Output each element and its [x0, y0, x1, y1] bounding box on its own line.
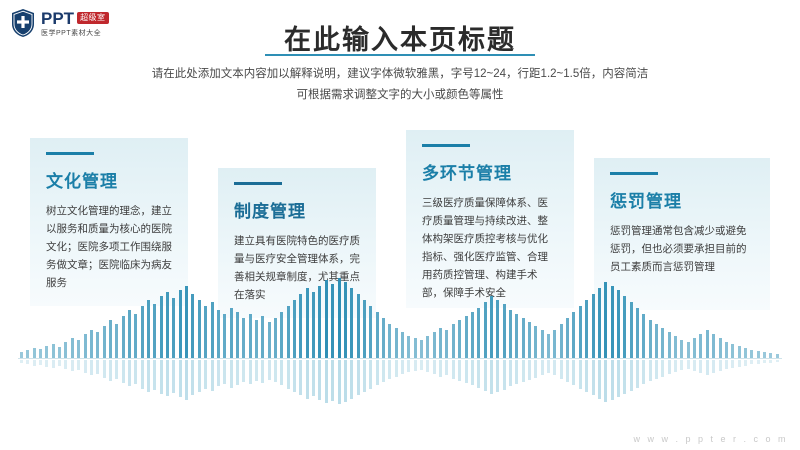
card-title: 制度管理 [234, 197, 360, 222]
wave-bar [655, 324, 658, 358]
wave-bar [191, 294, 194, 358]
wave-bar-reflection [503, 360, 506, 390]
wave-bar [725, 342, 728, 358]
wave-bar-reflection [268, 360, 271, 380]
wave-bar-reflection [699, 360, 702, 373]
wave-bar-reflection [204, 360, 207, 389]
wave-bar [185, 286, 188, 358]
wave-bar-reflection [179, 360, 182, 397]
wave-bar-reflection [236, 360, 239, 385]
wave-bar [242, 318, 245, 358]
wave-bar [560, 324, 563, 358]
page-title: 在此输入本页标题 [0, 18, 800, 57]
wave-bar [344, 282, 347, 358]
wave-bar-reflection [445, 360, 448, 375]
wave-bar [147, 300, 150, 358]
wave-bar-reflection [58, 360, 61, 366]
wave-bar-reflection [122, 360, 125, 383]
wave-bar [115, 324, 118, 358]
wave-bar [376, 312, 379, 358]
card-title: 文化管理 [46, 167, 172, 192]
wave-bar-reflection [287, 360, 290, 389]
wave-bar [58, 347, 61, 358]
wave-bar-reflection [318, 360, 321, 400]
subtitle-line-1: 请在此处添加文本内容加以解释说明，建议字体微软雅黑，字号12~24，行距1.2~… [0, 64, 800, 85]
wave-bar [465, 316, 468, 358]
wave-bar-reflection [725, 360, 728, 369]
wave-bar-reflection [738, 360, 741, 367]
wave-bar-reflection [420, 360, 423, 370]
wave-bar-reflection [719, 360, 722, 371]
wave-bar-reflection [312, 360, 315, 396]
wave-bar-reflection [439, 360, 442, 377]
wave-bar-reflection [344, 360, 347, 402]
wave-bar [668, 332, 671, 358]
card-body: 惩罚管理通常包含减少或避免惩罚，但也必须要承担目前的员工素质而言惩罚管理 [610, 222, 754, 276]
wave-bar-reflection [750, 360, 753, 364]
wave-bar [598, 288, 601, 358]
wave-bar [198, 300, 201, 358]
wave-bar-reflection [611, 360, 614, 400]
wave-bar [534, 326, 537, 358]
wave-bar-reflection [382, 360, 385, 382]
wave-bar-reflection [553, 360, 556, 375]
wave-bar [680, 340, 683, 358]
wave-bar-reflection [712, 360, 715, 373]
wave-bar [522, 318, 525, 358]
wave-bar-reflection [217, 360, 220, 386]
wave-bar-reflection [572, 360, 575, 385]
wave-bar-reflection [649, 360, 652, 381]
wave-bar-reflection [153, 360, 156, 390]
wave-bar-reflection [776, 360, 779, 362]
wave-bar-reflection [509, 360, 512, 386]
wave-bar [363, 300, 366, 358]
wave-bar [420, 340, 423, 358]
wave-bar-reflection [585, 360, 588, 392]
wave-bar [763, 352, 766, 358]
wave-bar [71, 338, 74, 358]
wave-bar-reflection [369, 360, 372, 389]
wave-bar [401, 332, 404, 358]
wave-bar-reflection [407, 360, 410, 372]
wave-bar-reflection [661, 360, 664, 377]
wave-bar-reflection [477, 360, 480, 388]
wave-bar-reflection [160, 360, 163, 394]
wave-bar [699, 334, 702, 358]
wave-bar [230, 308, 233, 358]
wave-baseline [18, 358, 782, 359]
wave-bar [509, 310, 512, 358]
wave-bar [261, 316, 264, 358]
wave-bar [433, 332, 436, 358]
wave-bar [776, 354, 779, 358]
wave-bar [712, 334, 715, 358]
wave-bar-reflection [433, 360, 436, 374]
wave-bar [636, 308, 639, 358]
wave-bar [338, 278, 341, 358]
wave-bar [528, 322, 531, 358]
wave-bar-reflection [249, 360, 252, 384]
wave-bar-reflection [109, 360, 112, 381]
watermark: w w w . p p t e r . c o m [633, 434, 788, 444]
wave-bar [236, 312, 239, 358]
title-underline [265, 54, 535, 56]
wave-bar [357, 294, 360, 358]
wave-bar-reflection [490, 360, 493, 394]
wave-bar [611, 286, 614, 358]
wave-bar-reflection [242, 360, 245, 382]
card-title: 惩罚管理 [610, 187, 754, 212]
wave-bar [109, 320, 112, 358]
wave-bar-reflection [147, 360, 150, 392]
wave-bar-reflection [350, 360, 353, 399]
wave-bar-reflection [414, 360, 417, 371]
wave-bar-reflection [357, 360, 360, 395]
wave-bar [452, 324, 455, 358]
wave-bar-reflection [592, 360, 595, 395]
wave-bar [77, 340, 80, 358]
wave-bar-reflection [388, 360, 391, 379]
wave-bar-reflection [636, 360, 639, 388]
wave-bar [223, 314, 226, 358]
wave-bar-reflection [26, 360, 29, 364]
wave-bar [503, 304, 506, 358]
wave-bar-reflection [331, 360, 334, 401]
wave-bar [731, 344, 734, 358]
wave-bar-reflection [223, 360, 226, 384]
wave-bar [566, 318, 569, 358]
wave-bar [630, 302, 633, 358]
wave-bar [674, 336, 677, 358]
wave-bar [445, 330, 448, 358]
wave-bar [249, 314, 252, 358]
wave-bar-reflection [528, 360, 531, 380]
wave-bar [541, 330, 544, 358]
wave-bar [103, 326, 106, 358]
wave-bar-reflection [668, 360, 671, 374]
wave-bar [274, 318, 277, 358]
wave-decoration [0, 280, 800, 440]
wave-bar-reflection [134, 360, 137, 384]
wave-bar [179, 290, 182, 358]
wave-bar-reflection [338, 360, 341, 404]
wave-bar-reflection [71, 360, 74, 371]
page-subtitle: 请在此处添加文本内容加以解释说明，建议字体微软雅黑，字号12~24，行距1.2~… [0, 64, 800, 107]
wave-bar [426, 336, 429, 358]
wave-bar-reflection [687, 360, 690, 369]
wave-bar-reflection [731, 360, 734, 368]
wave-bar [52, 344, 55, 358]
wave-bar [293, 300, 296, 358]
wave-bar-reflection [566, 360, 569, 382]
wave-bar-reflection [185, 360, 188, 400]
wave-bar [407, 336, 410, 358]
wave-bar-reflection [630, 360, 633, 391]
wave-bar-reflection [96, 360, 99, 374]
wave-bar-reflection [426, 360, 429, 372]
card-accent-rule [422, 144, 470, 147]
wave-bar-reflection [560, 360, 563, 379]
wave-bar [331, 284, 334, 358]
wave-bar [496, 300, 499, 358]
wave-bar [477, 308, 480, 358]
wave-bar [160, 296, 163, 358]
wave-bar [211, 302, 214, 358]
wave-bar-reflection [191, 360, 194, 395]
wave-bar-reflection [84, 360, 87, 373]
wave-bar [687, 342, 690, 358]
wave-bar [325, 280, 328, 358]
wave-bar [757, 351, 760, 358]
wave-bar [26, 350, 29, 358]
wave-bar [20, 352, 23, 358]
wave-bar-reflection [115, 360, 118, 379]
wave-bar [750, 350, 753, 358]
wave-bar [90, 330, 93, 358]
wave-bar-reflection [484, 360, 487, 391]
wave-bar [350, 288, 353, 358]
wave-bar-reflection [604, 360, 607, 402]
wave-bar-reflection [293, 360, 296, 392]
wave-bar-reflection [255, 360, 258, 381]
wave-bar-reflection [693, 360, 696, 371]
wave-bar-reflection [141, 360, 144, 389]
wave-bar-reflection [166, 360, 169, 396]
wave-bar-reflection [90, 360, 93, 375]
wave-bar-reflection [172, 360, 175, 393]
wave-bar-reflection [763, 360, 766, 363]
wave-bar [706, 330, 709, 358]
wave-bar [642, 314, 645, 358]
wave-bar [693, 338, 696, 358]
wave-bar-reflection [128, 360, 131, 386]
wave-bar [122, 316, 125, 358]
wave-bar [64, 342, 67, 358]
wave-bar [388, 324, 391, 358]
card-accent-rule [610, 172, 658, 175]
wave-bar [623, 296, 626, 358]
wave-bar [45, 346, 48, 358]
wave-bar [439, 328, 442, 358]
wave-bar [255, 320, 258, 358]
wave-bar-reflection [401, 360, 404, 374]
wave-bar [172, 298, 175, 358]
wave-bar-reflection [77, 360, 80, 370]
wave-bar-reflection [655, 360, 658, 379]
wave-bar-reflection [757, 360, 760, 364]
wave-bar [515, 314, 518, 358]
wave-bar [287, 306, 290, 358]
wave-bar [738, 346, 741, 358]
wave-bar-reflection [306, 360, 309, 399]
wave-bar [318, 286, 321, 358]
wave-bar [39, 349, 42, 358]
wave-bar-reflection [376, 360, 379, 385]
wave-bar [312, 292, 315, 358]
wave-bar [617, 290, 620, 358]
wave-bar-reflection [299, 360, 302, 395]
wave-bar-reflection [674, 360, 677, 372]
wave-bar [471, 312, 474, 358]
wave-bar [141, 306, 144, 358]
wave-bar-reflection [363, 360, 366, 392]
wave-bar-reflection [211, 360, 214, 391]
wave-bar-reflection [280, 360, 283, 385]
wave-bar [661, 328, 664, 358]
wave-bar [204, 306, 207, 358]
wave-bar [299, 294, 302, 358]
wave-bar-reflection [64, 360, 67, 369]
wave-bar [96, 332, 99, 358]
wave-bar-reflection [617, 360, 620, 397]
card-title: 多环节管理 [422, 159, 558, 184]
wave-bar [585, 300, 588, 358]
wave-bar-reflection [52, 360, 55, 368]
wave-bar [458, 320, 461, 358]
wave-bar [369, 306, 372, 358]
card-accent-rule [46, 152, 94, 155]
wave-bar-reflection [458, 360, 461, 381]
wave-bar [572, 312, 575, 358]
wave-bar-reflection [33, 360, 36, 366]
wave-bar-reflection [45, 360, 48, 367]
wave-bar [382, 318, 385, 358]
wave-bar-reflection [20, 360, 23, 363]
wave-bar-reflection [325, 360, 328, 403]
wave-bar-reflection [39, 360, 42, 365]
wave-bar [649, 320, 652, 358]
wave-bar [490, 296, 493, 358]
wave-bar-reflection [642, 360, 645, 384]
wave-bar-reflection [274, 360, 277, 382]
wave-bar-reflection [598, 360, 601, 399]
wave-bar-reflection [452, 360, 455, 379]
wave-bar-reflection [103, 360, 106, 378]
wave-bar-reflection [496, 360, 499, 392]
wave-bar-reflection [515, 360, 518, 384]
wave-bar [280, 312, 283, 358]
wave-bar-reflection [547, 360, 550, 373]
wave-bar [268, 322, 271, 358]
wave-bar [744, 348, 747, 358]
wave-bar [84, 334, 87, 358]
wave-bar-reflection [198, 360, 201, 392]
wave-bar-reflection [465, 360, 468, 383]
wave-bar-reflection [471, 360, 474, 385]
card-body: 树立文化管理的理念，建立以服务和质量为核心的医院文化；医院多项工作围绕服务做文章… [46, 202, 172, 292]
wave-bar [579, 306, 582, 358]
wave-bar [592, 294, 595, 358]
wave-bar [547, 334, 550, 358]
wave-bar [134, 314, 137, 358]
wave-bar [769, 353, 772, 358]
wave-bar-reflection [395, 360, 398, 377]
wave-bar [604, 282, 607, 358]
wave-bar [484, 302, 487, 358]
wave-bar [306, 288, 309, 358]
subtitle-line-2: 可根据需求调整文字的大小或颜色等属性 [0, 85, 800, 106]
wave-bar [166, 292, 169, 358]
wave-bar-reflection [769, 360, 772, 363]
wave-bar-reflection [623, 360, 626, 394]
wave-bar-reflection [579, 360, 582, 389]
wave-bar [414, 338, 417, 358]
wave-bar-reflection [522, 360, 525, 382]
wave-bar [33, 348, 36, 358]
wave-bar-reflection [230, 360, 233, 388]
wave-bar-reflection [680, 360, 683, 370]
wave-bar-reflection [706, 360, 709, 375]
wave-bar-reflection [534, 360, 537, 378]
wave-bar-reflection [261, 360, 264, 383]
wave-bar-reflection [744, 360, 747, 366]
wave-bar [153, 304, 156, 358]
wave-bar [553, 330, 556, 358]
wave-bar [395, 328, 398, 358]
wave-bar [128, 310, 131, 358]
card-accent-rule [234, 182, 282, 185]
wave-bar-reflection [541, 360, 544, 375]
wave-bar [719, 338, 722, 358]
wave-bar [217, 310, 220, 358]
